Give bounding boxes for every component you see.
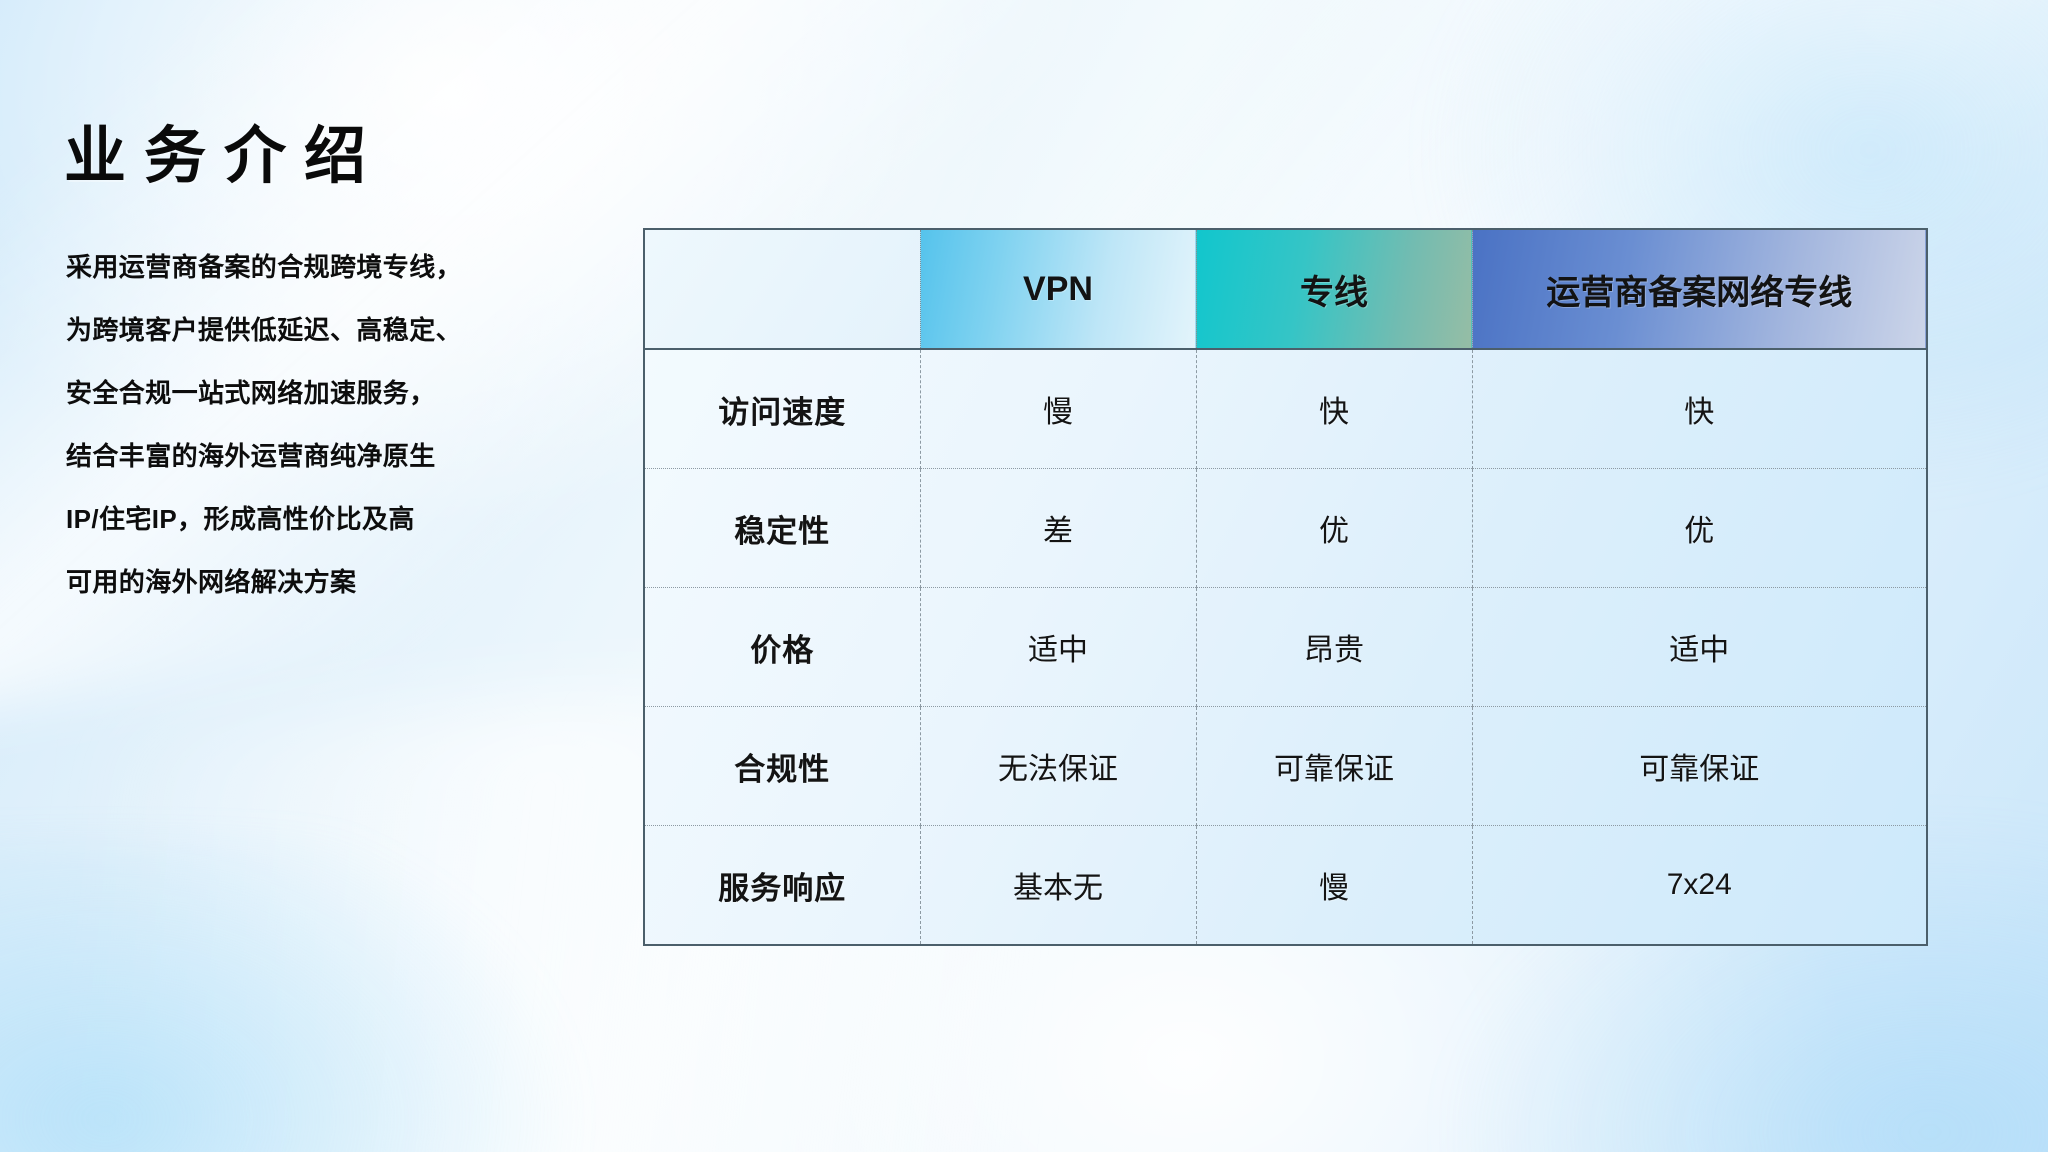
cell-vpn: 适中 xyxy=(920,588,1196,707)
intro-line: 为跨境客户提供低延迟、高稳定、 xyxy=(66,299,626,362)
page-title: 业务介绍 xyxy=(64,105,384,195)
table-row: 服务响应 基本无 慢 7x24 xyxy=(644,826,1927,946)
cell-carrier: 适中 xyxy=(1472,588,1927,707)
table-header-vpn: VPN xyxy=(920,229,1196,349)
cell-line: 快 xyxy=(1196,349,1472,469)
cell-carrier: 可靠保证 xyxy=(1472,707,1927,826)
row-label: 价格 xyxy=(644,588,920,707)
cell-vpn: 差 xyxy=(920,469,1196,588)
cell-vpn: 慢 xyxy=(920,349,1196,469)
cell-carrier: 优 xyxy=(1472,469,1927,588)
intro-line: IP/住宅IP，形成高性价比及高 xyxy=(66,488,626,551)
row-label: 服务响应 xyxy=(644,826,920,946)
table-header-blank xyxy=(644,229,920,349)
cell-line: 优 xyxy=(1196,469,1472,588)
table-header-row: VPN 专线 运营商备案网络专线 xyxy=(644,229,1927,349)
slide-canvas: 业务介绍 采用运营商备案的合规跨境专线， 为跨境客户提供低延迟、高稳定、 安全合… xyxy=(0,0,2048,1152)
intro-line: 结合丰富的海外运营商纯净原生 xyxy=(66,425,626,488)
intro-paragraph: 采用运营商备案的合规跨境专线， 为跨境客户提供低延迟、高稳定、 安全合规一站式网… xyxy=(66,236,626,614)
table-header: VPN 专线 运营商备案网络专线 xyxy=(644,229,1927,349)
table-body: 访问速度 慢 快 快 稳定性 差 优 优 价格 适中 昂贵 适中 合规性 无法保… xyxy=(644,349,1927,945)
cell-carrier: 快 xyxy=(1472,349,1927,469)
intro-line: 采用运营商备案的合规跨境专线， xyxy=(66,236,626,299)
cell-vpn: 基本无 xyxy=(920,826,1196,946)
table-row: 合规性 无法保证 可靠保证 可靠保证 xyxy=(644,707,1927,826)
blue-glow-bottom-left xyxy=(0,840,600,1152)
table-header-line: 专线 xyxy=(1196,229,1472,349)
cell-line: 慢 xyxy=(1196,826,1472,946)
row-label: 稳定性 xyxy=(644,469,920,588)
intro-line: 可用的海外网络解决方案 xyxy=(66,551,626,614)
cell-line: 昂贵 xyxy=(1196,588,1472,707)
table-row: 稳定性 差 优 优 xyxy=(644,469,1927,588)
row-label: 合规性 xyxy=(644,707,920,826)
cell-carrier: 7x24 xyxy=(1472,826,1927,946)
cell-vpn: 无法保证 xyxy=(920,707,1196,826)
row-label: 访问速度 xyxy=(644,349,920,469)
table-row: 访问速度 慢 快 快 xyxy=(644,349,1927,469)
cell-line: 可靠保证 xyxy=(1196,707,1472,826)
table-header-carrier: 运营商备案网络专线 xyxy=(1472,229,1927,349)
intro-line: 安全合规一站式网络加速服务， xyxy=(66,362,626,425)
table-row: 价格 适中 昂贵 适中 xyxy=(644,588,1927,707)
comparison-table: VPN 专线 运营商备案网络专线 访问速度 慢 快 快 稳定性 差 优 优 价格… xyxy=(643,228,1928,946)
